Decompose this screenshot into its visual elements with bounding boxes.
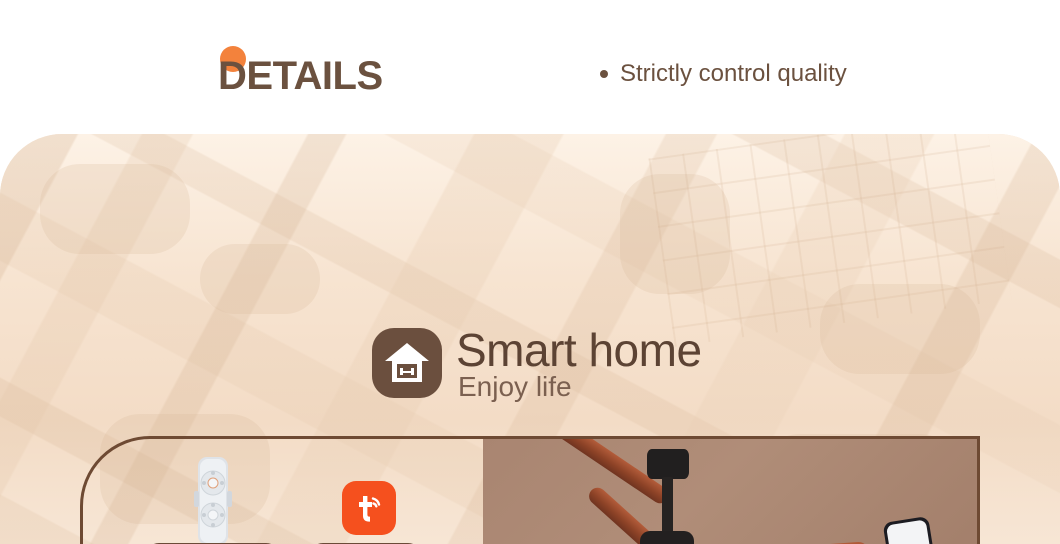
smart-home-house-sofa-icon — [372, 328, 442, 398]
page-header: DETAILS Strictly control quality — [0, 0, 1060, 134]
fan-down-rod — [662, 477, 673, 533]
page-title-text: DETAILS — [218, 54, 383, 98]
header-subtitle: Strictly control quality — [600, 60, 847, 88]
smart-home-heading: Smart home Enjoy life — [372, 324, 702, 402]
header-subtitle-text: Strictly control quality — [620, 60, 847, 88]
remote-control-device-icon — [192, 457, 234, 544]
fan-motor-housing — [640, 531, 694, 544]
background-furniture-blob — [40, 164, 190, 254]
frame-right-photo-panel — [483, 439, 977, 544]
bullet-dot-icon — [600, 70, 608, 78]
smart-home-title: Smart home — [456, 324, 702, 376]
smartphone-app-screen — [886, 519, 938, 544]
smart-home-subtitle: Enjoy life — [458, 372, 702, 402]
background-furniture-blob — [820, 284, 980, 374]
background-furniture-blob — [620, 174, 730, 294]
background-furniture-blob — [200, 244, 320, 314]
fan-ceiling-mount — [647, 449, 689, 479]
smartphone-device — [883, 516, 942, 544]
page-title: DETAILS — [218, 52, 383, 100]
details-banner: Smart home Enjoy life — [0, 134, 1060, 544]
hand-holding-phone-image — [873, 519, 951, 544]
frame-left-panel: remote control Tuya Smart Remote control… — [83, 439, 483, 544]
feature-frame: remote control Tuya Smart Remote control… — [80, 436, 980, 544]
tuya-smart-logo-icon — [342, 481, 396, 535]
